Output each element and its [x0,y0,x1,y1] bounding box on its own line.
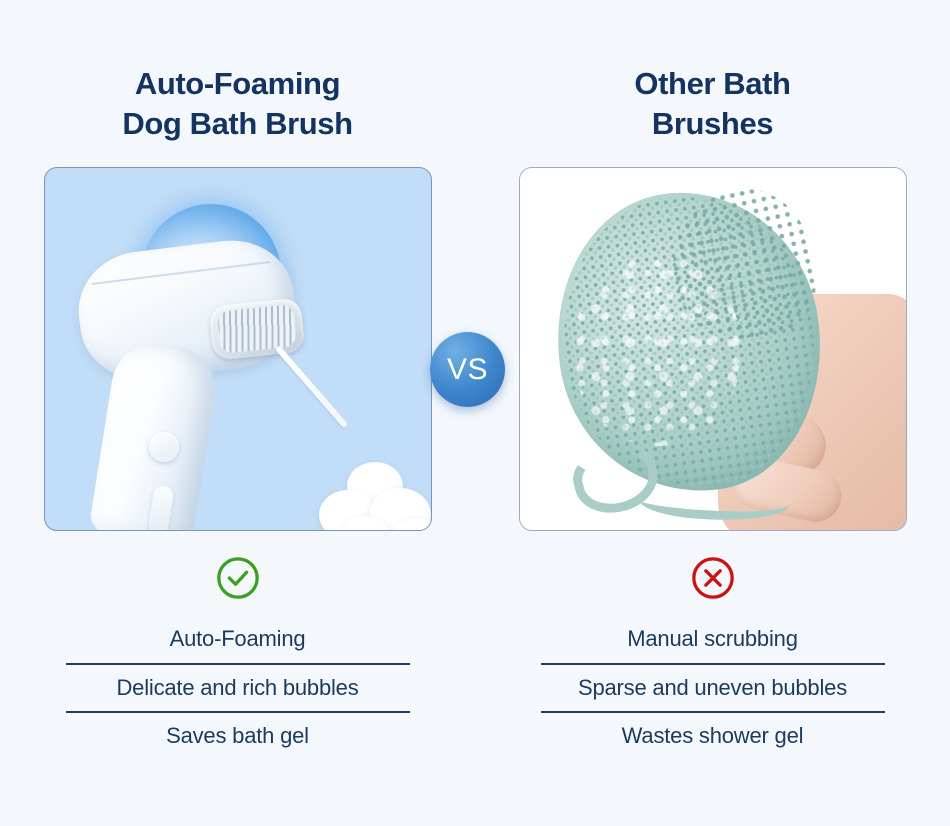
power-button [149,432,179,462]
vs-badge-label: VS [447,355,488,385]
x-circle-icon [690,555,736,601]
column-title-right-line1: Other Bath [513,64,913,104]
comparison-column-other-brushes: Other Bath Brushes Manual sc [475,0,950,826]
feature-row: Sparse and uneven bubbles [541,663,885,711]
silicone-brush-illustration [520,168,906,530]
column-title-left: Auto-Foaming Dog Bath Brush [38,64,438,143]
product-image-panel-left [44,167,432,531]
auto-foaming-brush-illustration [45,168,431,530]
foam-stream [274,345,347,428]
foam-pile [317,462,432,531]
feature-row: Saves bath gel [66,711,410,759]
column-title-right-line2: Brushes [513,104,913,144]
feature-row: Wastes shower gel [541,711,885,759]
product-image-panel-right [519,167,907,531]
foam-nozzle [208,298,305,361]
check-circle-icon [215,555,261,601]
comparison-column-auto-foaming: Auto-Foaming Dog Bath Brush [0,0,475,826]
column-title-right: Other Bath Brushes [513,64,913,143]
nozzle-grill [217,304,297,354]
column-title-left-line2: Dog Bath Brush [38,104,438,144]
vs-badge: VS [430,332,505,407]
feature-list-right: Manual scrubbing Sparse and uneven bubbl… [541,615,885,759]
feature-list-left: Auto-Foaming Delicate and rich bubbles S… [66,615,410,759]
sparse-suds [572,256,742,446]
feature-row: Manual scrubbing [541,615,885,663]
column-title-left-line1: Auto-Foaming [38,64,438,104]
comparison-infographic: Auto-Foaming Dog Bath Brush [0,0,950,826]
feature-row: Delicate and rich bubbles [66,663,410,711]
feature-row: Auto-Foaming [66,615,410,663]
